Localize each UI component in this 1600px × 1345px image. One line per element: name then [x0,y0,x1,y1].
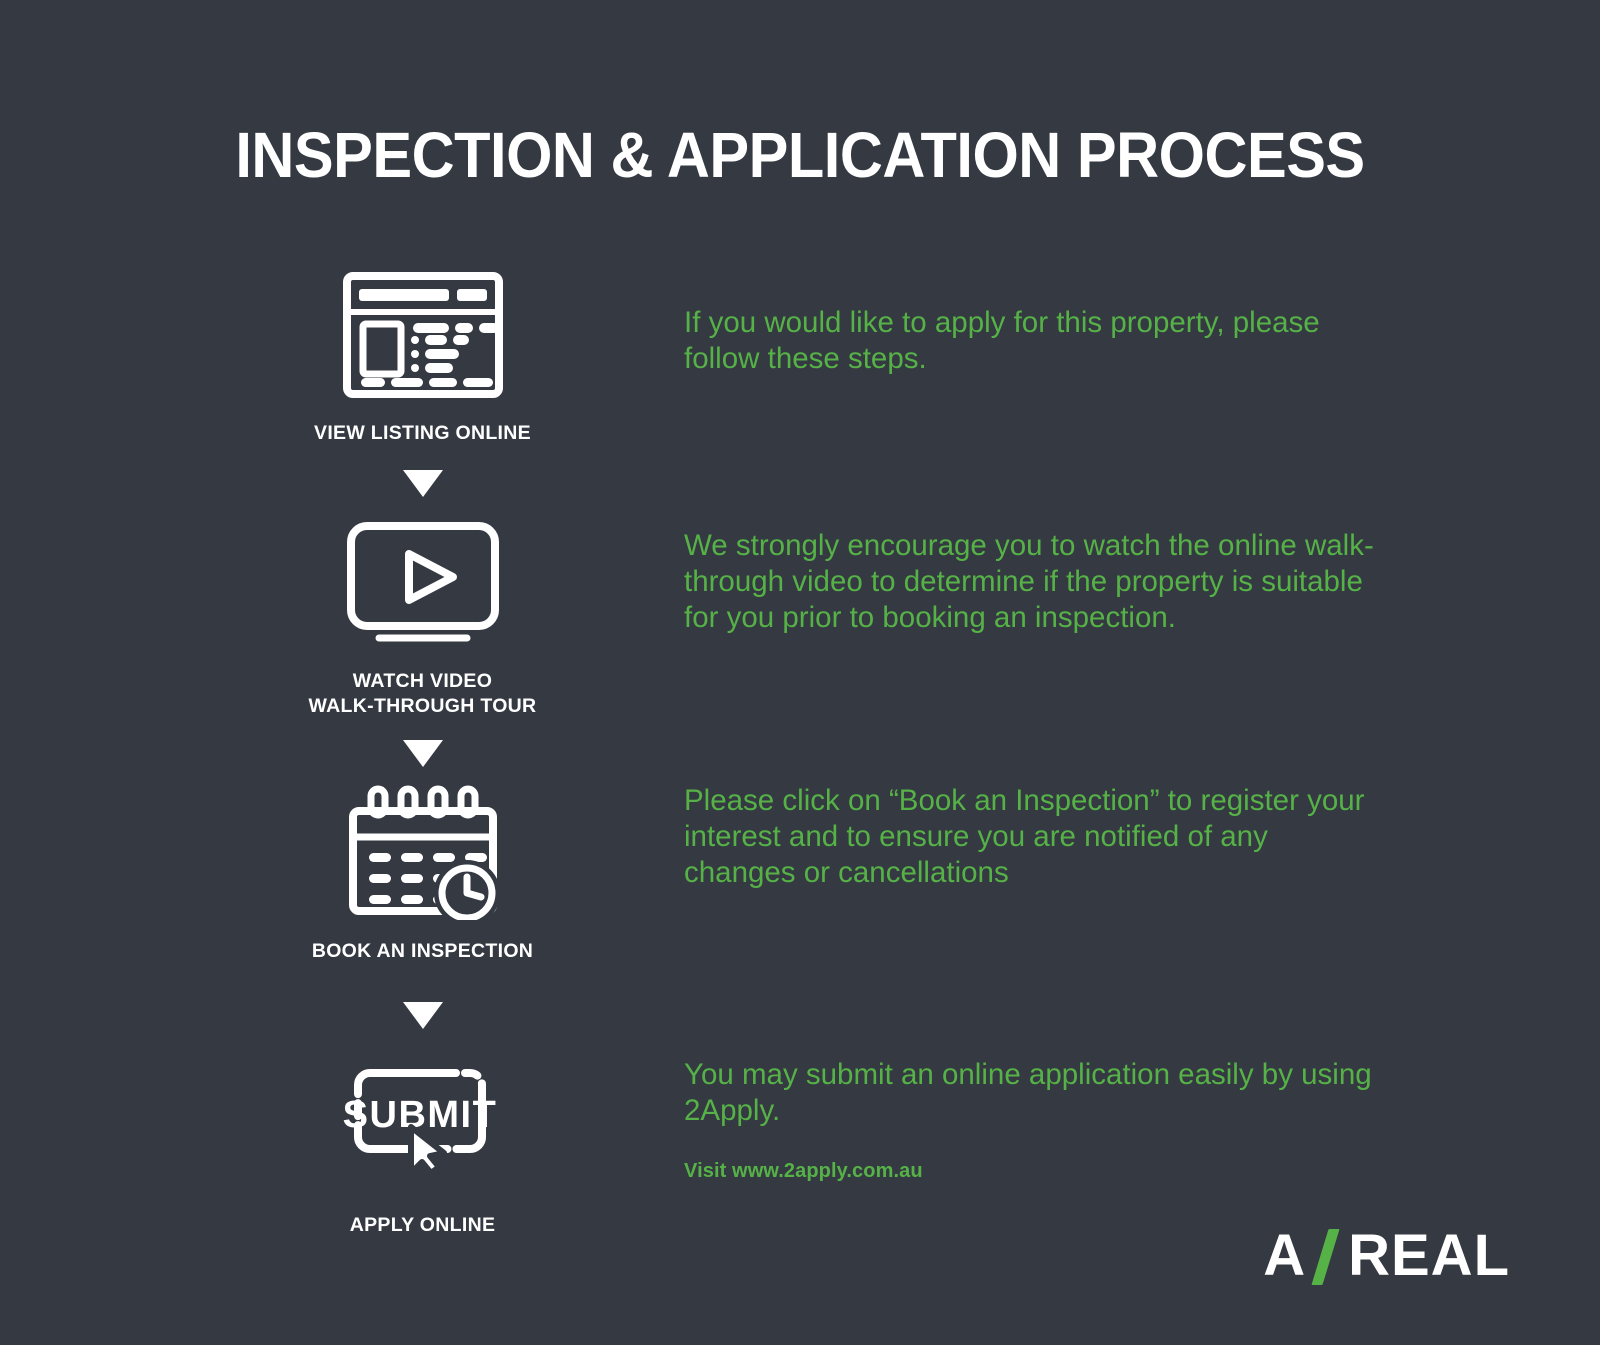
browser-listing-icon [250,262,595,407]
page-title: INSPECTION & APPLICATION PROCESS [56,118,1544,192]
submit-button-cursor-icon: SUBMIT [250,1044,595,1189]
step-label-watch-video-line1: WATCH VIDEO [250,669,595,694]
step-apply-online: SUBMIT APPLY ONLINE [250,1044,595,1238]
step-label-watch-video: WATCH VIDEO WALK-THROUGH TOUR [250,669,595,719]
logo-word-real: REAL [1348,1222,1510,1289]
svg-text:SUBMIT: SUBMIT [343,1094,498,1136]
step-label-view-listing: VIEW LISTING ONLINE [250,421,595,446]
infographic-poster: INSPECTION & APPLICATION PROCESS [0,0,1600,1345]
down-triangle-icon [250,470,595,497]
copy-paragraph-4: You may submit an online application eas… [684,1057,1384,1129]
step-watch-video: WATCH VIDEO WALK-THROUGH TOUR [250,510,595,719]
copy-paragraph-1: If you would like to apply for this prop… [684,305,1384,377]
copy-paragraph-3: Please click on “Book an Inspection” to … [684,783,1384,891]
step-label-book-inspection: BOOK AN INSPECTION [250,939,595,964]
visit-link[interactable]: Visit www.2apply.com.au [684,1160,923,1183]
logo-letter-a: A [1263,1222,1306,1289]
copy-paragraph-2: We strongly encourage you to watch the o… [684,528,1384,636]
brand-logo: A REAL [1263,1222,1510,1289]
step-label-apply-online: APPLY ONLINE [250,1213,595,1238]
logo-slash-icon [1308,1227,1346,1285]
calendar-clock-icon [250,780,595,925]
down-triangle-icon [250,1002,595,1029]
step-book-inspection: BOOK AN INSPECTION [250,780,595,964]
step-view-listing: VIEW LISTING ONLINE [250,262,595,446]
step-label-watch-video-line2: WALK-THROUGH TOUR [250,694,595,719]
down-triangle-icon [250,740,595,767]
video-monitor-play-icon [250,510,595,655]
